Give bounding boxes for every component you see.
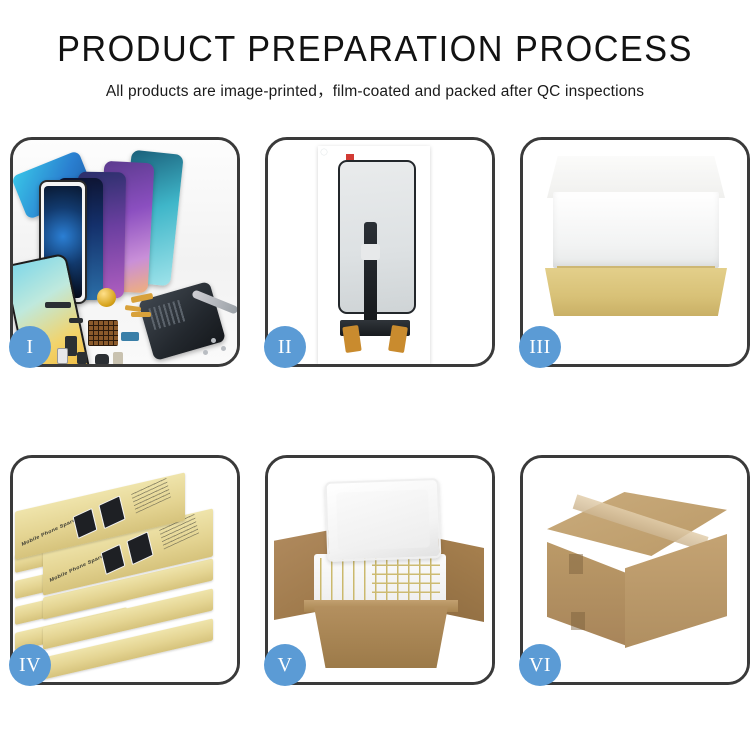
- carton-left-face: [547, 542, 627, 646]
- product-preparation-infographic: PRODUCT PREPARATION PROCESS All products…: [0, 0, 750, 750]
- small-part-9: [69, 318, 83, 323]
- step-badge-5: V: [264, 644, 306, 686]
- carton-front-panel: [308, 606, 454, 668]
- box-window-1a: [73, 508, 98, 539]
- small-part-5: [95, 354, 109, 364]
- small-part-6: [113, 352, 123, 364]
- screw-3: [203, 350, 208, 355]
- header: PRODUCT PREPARATION PROCESS All products…: [0, 0, 750, 101]
- step-4-image: Mobile Phone Spare Parts Mobile Phone Sp…: [13, 458, 237, 682]
- step-2-image: [268, 140, 492, 364]
- step-badge-2: II: [264, 326, 306, 368]
- process-step-1: I: [10, 137, 240, 367]
- process-steps-grid: I II III: [10, 137, 740, 685]
- bubble-wrap-bag: [318, 146, 430, 364]
- foam-box-lid: [325, 478, 442, 562]
- page-subtitle: All products are image-printed，film-coat…: [0, 79, 750, 101]
- process-step-5: V: [265, 455, 495, 685]
- process-step-4: Mobile Phone Spare Parts Mobile Phone Sp…: [10, 455, 240, 685]
- step-3-image: [523, 140, 747, 364]
- process-step-2: II: [265, 137, 495, 367]
- step-badge-1: I: [9, 326, 51, 368]
- screw-2: [221, 346, 226, 351]
- small-part-4: [77, 352, 87, 364]
- step-badge-6: VI: [519, 644, 561, 686]
- small-part-3: [121, 332, 139, 341]
- step-5-image: [268, 458, 492, 682]
- gold-component-icon: [97, 288, 116, 307]
- process-step-3: III: [520, 137, 750, 367]
- process-step-6: VI: [520, 455, 750, 685]
- box-window-1b: [98, 495, 125, 529]
- kraft-box-base: [545, 268, 727, 316]
- step-badge-4: IV: [9, 644, 51, 686]
- carton-tab-1: [569, 554, 583, 574]
- box-window-2a: [101, 544, 126, 575]
- box-window-2b: [126, 531, 153, 565]
- small-part-7: [57, 348, 68, 364]
- white-foam-sheet: [553, 192, 719, 268]
- flex-cable-2: [125, 305, 142, 312]
- carton-tab-2: [571, 612, 585, 630]
- page-title: PRODUCT PREPARATION PROCESS: [19, 30, 732, 68]
- step-1-image: [13, 140, 237, 364]
- screw-1: [211, 338, 216, 343]
- box-spec-lines-1: [131, 477, 171, 513]
- small-part-1: [45, 302, 71, 308]
- kraft-boxes-bundle-2: [372, 558, 440, 602]
- chip-grid-component: [88, 320, 118, 346]
- step-6-image: [523, 458, 747, 682]
- step-badge-3: III: [519, 326, 561, 368]
- small-part-8: [131, 312, 151, 317]
